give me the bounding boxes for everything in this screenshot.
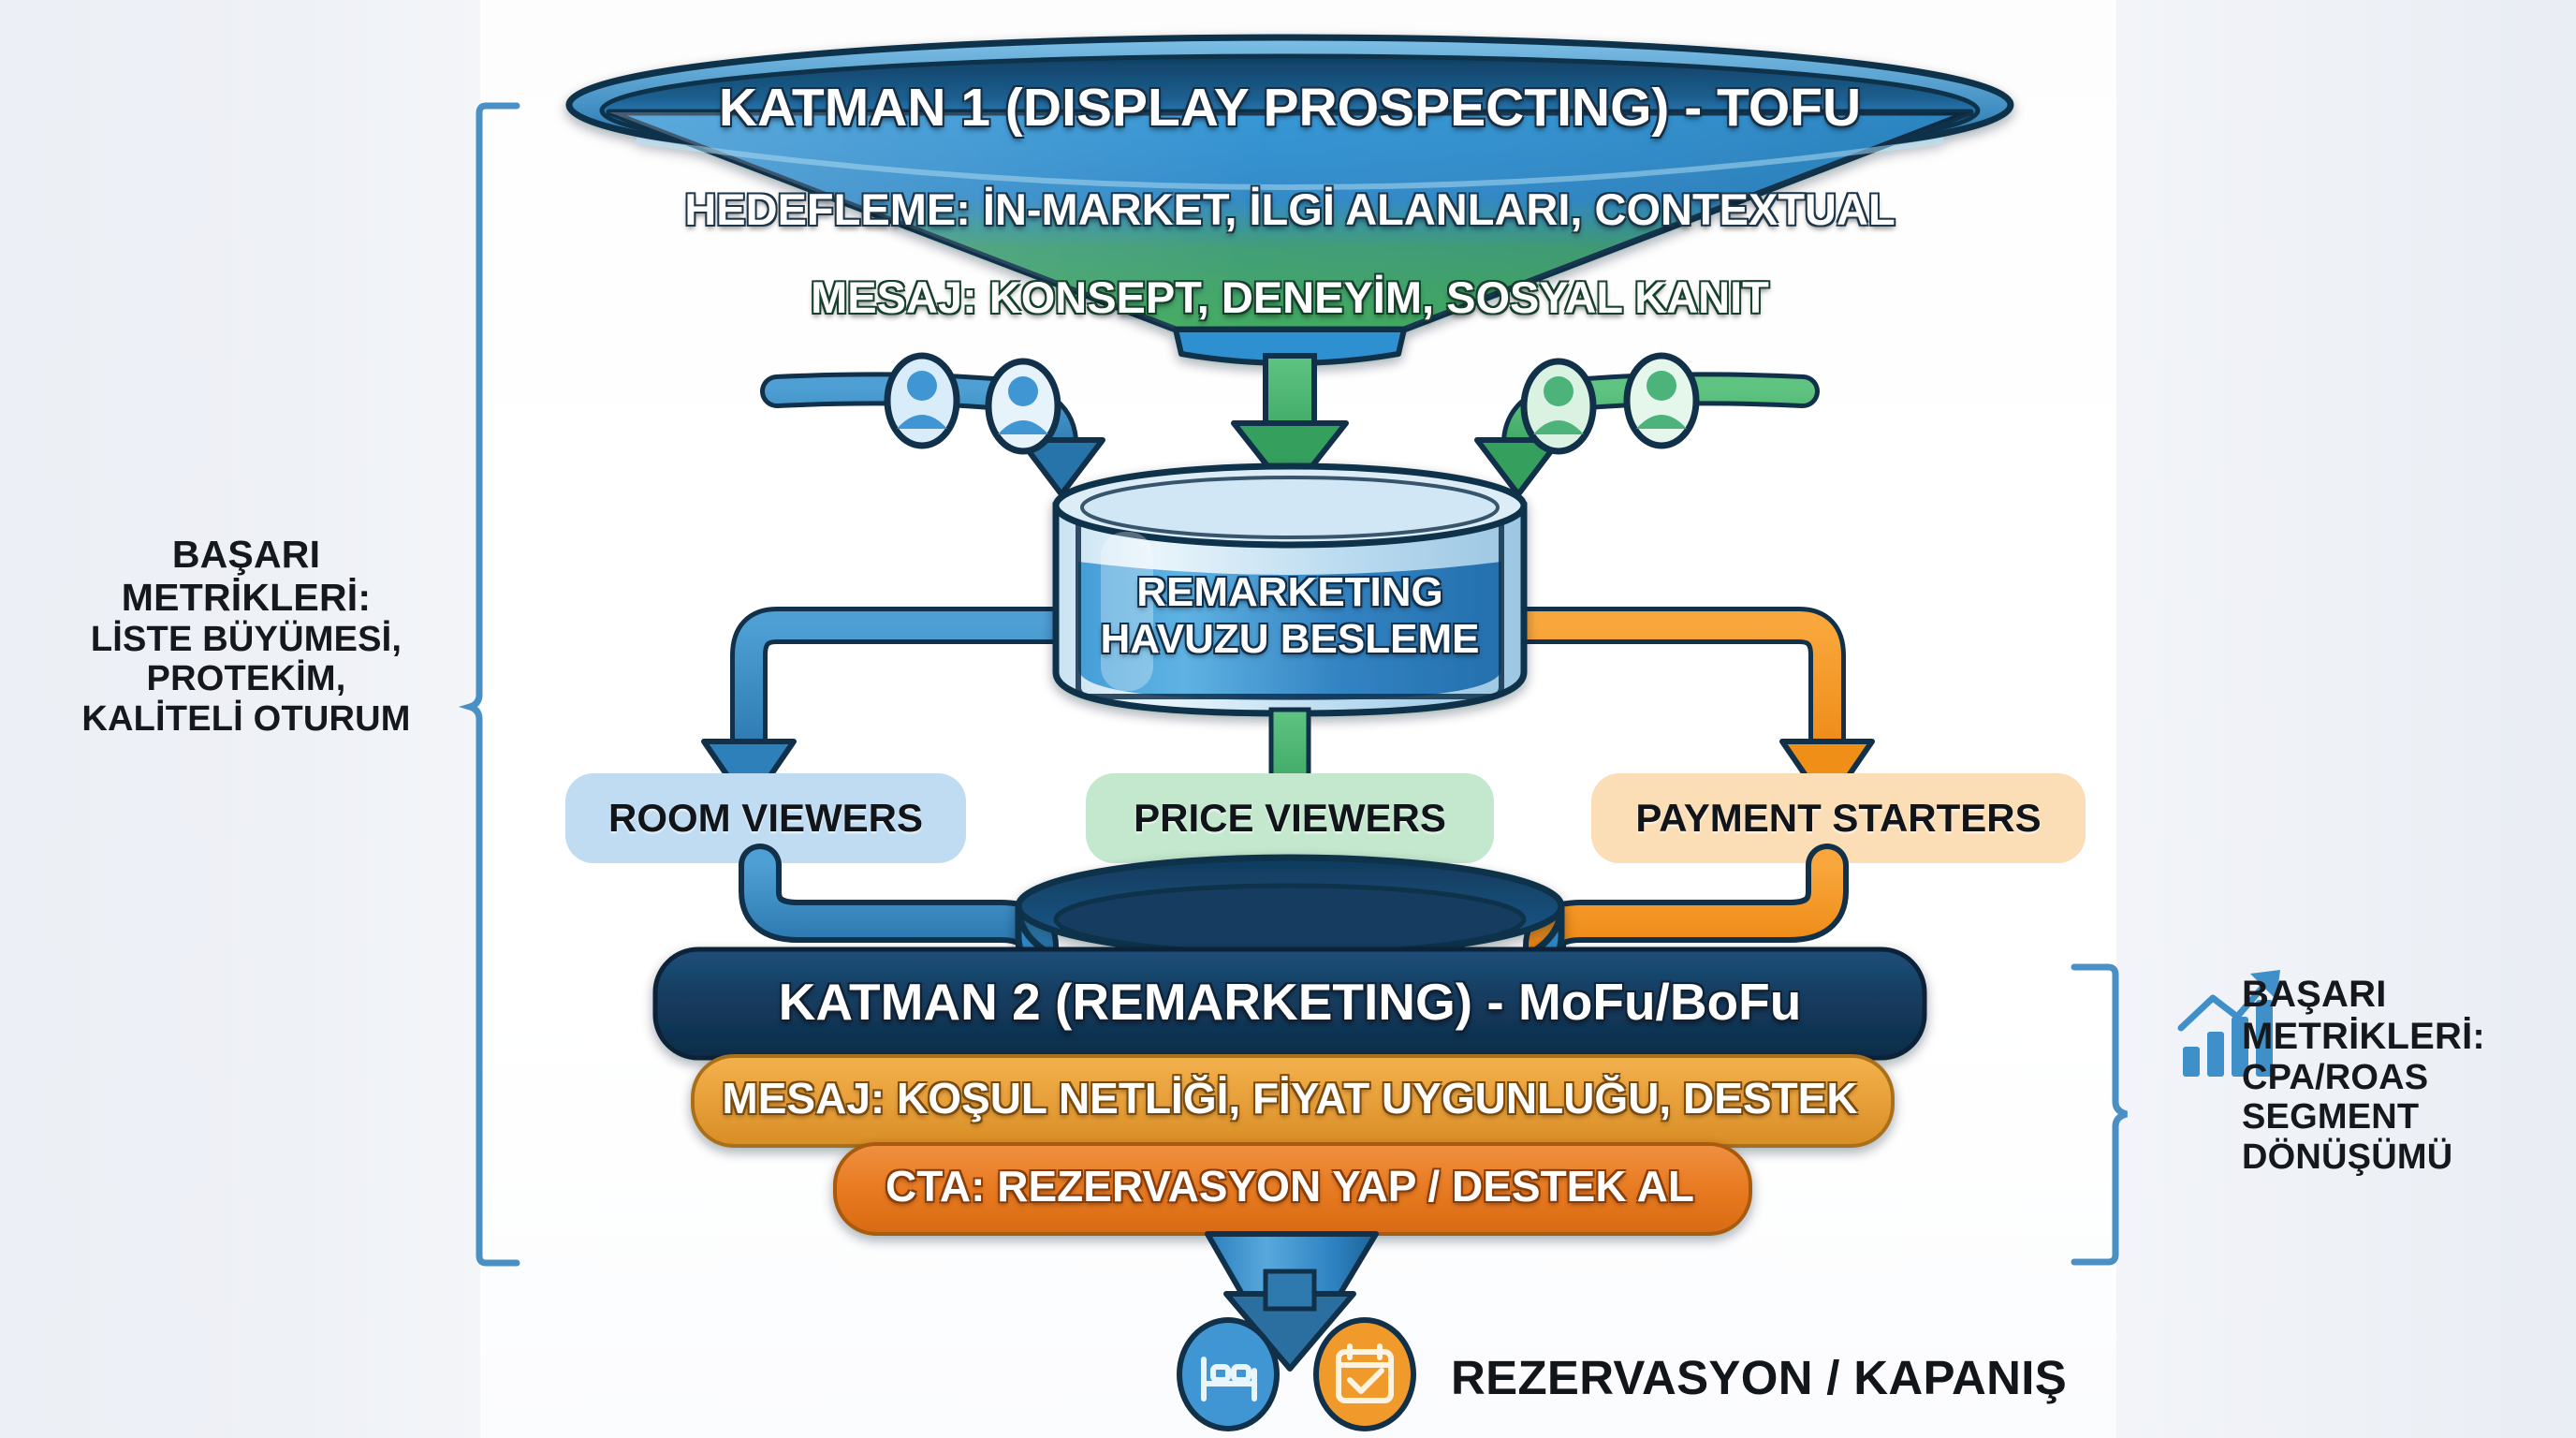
metrics-left-item-3: KALİTELİ OTURUM [26,699,466,740]
metrics-right-item-1: CPA/ROAS [2242,1058,2569,1098]
metrics-right-heading-1: BAŞARI [2242,974,2569,1016]
metrics-right-item-3: DÖNÜŞÜMÜ [2242,1137,2569,1178]
metrics-right-item-2: SEGMENT [2242,1097,2569,1137]
metrics-right-heading-2: METRİKLERİ: [2242,1016,2569,1058]
success-metrics-right: BAŞARI METRİKLERİ: CPA/ROAS SEGMENT DÖNÜ… [2242,974,2569,1177]
metrics-left-heading-1: BAŞARI [26,534,466,577]
metrics-left-heading-2: METRİKLERİ: [26,577,466,620]
metrics-left-item-1: LİSTE BÜYÜMESİ, [26,620,466,660]
success-metrics-left: BAŞARI METRİKLERİ: LİSTE BÜYÜMESİ, PROTE… [26,534,466,739]
background-center-panel [480,0,2116,1438]
metrics-left-item-2: PROTEKİM, [26,659,466,699]
background-right-panel [2116,0,2576,1438]
diagram-canvas: KATMAN 1 (DISPLAY PROSPECTING) - TOFU HE… [0,0,2576,1438]
